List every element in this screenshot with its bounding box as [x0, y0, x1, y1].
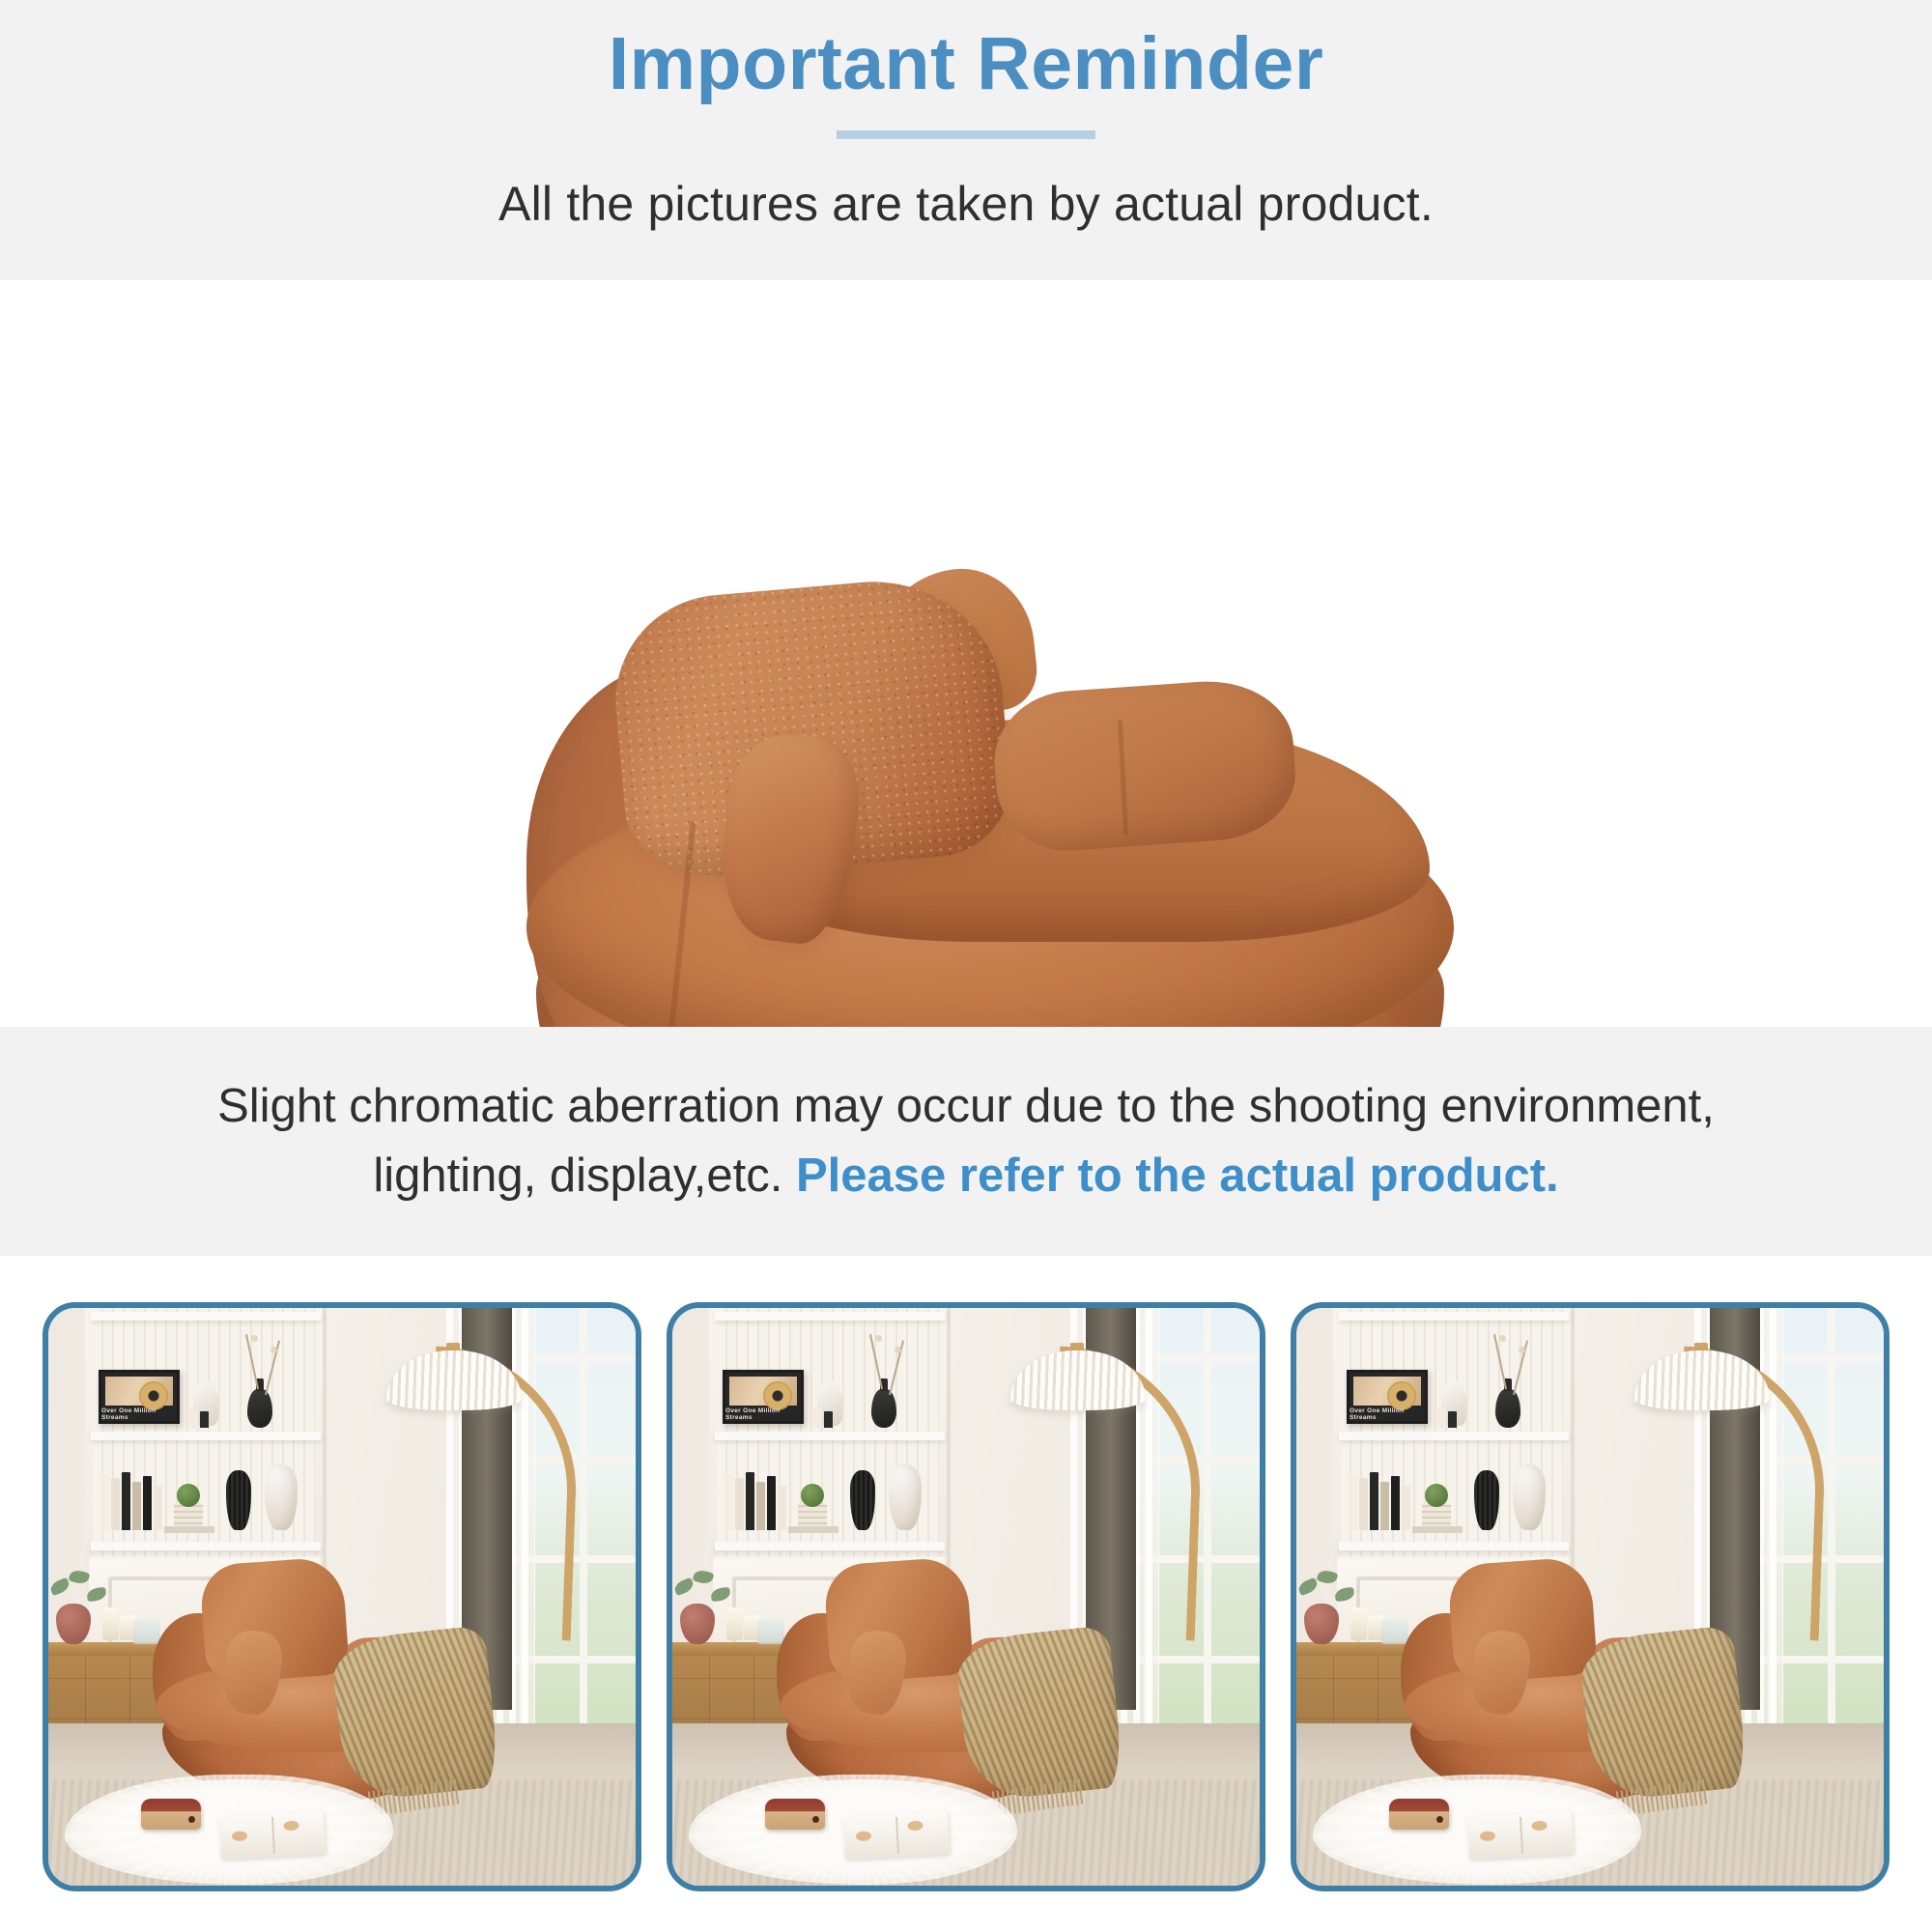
book: [1380, 1482, 1389, 1530]
branch-bud: [251, 1335, 258, 1342]
glass-jar: [133, 1619, 160, 1644]
book: [813, 1408, 822, 1428]
book-illustration: [1480, 1831, 1496, 1841]
book: [200, 1411, 209, 1428]
note-line-2: lighting, display,etc. Please refer to t…: [373, 1142, 1558, 1210]
shelf-plank-low: [1339, 1542, 1569, 1550]
bookshelf: Over One Million Streams: [85, 1308, 327, 1592]
book: [724, 1474, 733, 1530]
glass-jar: [757, 1619, 784, 1644]
book: [788, 1526, 838, 1533]
gallery-thumbnail-1[interactable]: Over One Million Streams: [43, 1302, 641, 1891]
book: [1412, 1526, 1463, 1533]
book: [1391, 1476, 1400, 1530]
book-illustration-2: [1531, 1821, 1548, 1832]
shelf-book-stack-upper: [189, 1408, 209, 1428]
branch-bud: [875, 1335, 882, 1342]
chromatic-aberration-note: Slight chromatic aberration may occur du…: [0, 1027, 1932, 1256]
cactus-plant: [1425, 1484, 1448, 1507]
vintage-radio: [1389, 1799, 1449, 1830]
note-line-2-highlight: Please refer to the actual product.: [796, 1150, 1559, 1202]
book: [100, 1474, 109, 1530]
pillar-candle: [1350, 1607, 1367, 1640]
bookshelf: Over One Million Streams: [1333, 1308, 1575, 1592]
radio-dial: [1436, 1816, 1443, 1823]
note-line-2-plain: lighting, display,etc.: [373, 1150, 796, 1202]
title-divider: [837, 130, 1095, 139]
book: [189, 1408, 198, 1428]
gallery-thumbnail-2[interactable]: Over One Million Streams: [667, 1302, 1265, 1891]
poster-gold-record: [139, 1381, 168, 1410]
poster-caption: Over One Million Streams: [1350, 1407, 1425, 1420]
shelf-book-stack-lower: [100, 1472, 162, 1530]
shelf-plank-low: [91, 1542, 321, 1550]
radio-dial: [812, 1816, 819, 1823]
branch-bud-2: [270, 1347, 277, 1353]
book: [1402, 1486, 1410, 1530]
shelf-book-stack-upper: [1437, 1408, 1457, 1428]
vintage-radio: [141, 1799, 201, 1830]
book: [778, 1486, 786, 1530]
cactus-plant: [801, 1484, 824, 1507]
book: [111, 1478, 120, 1530]
flat-book-stack: [1412, 1526, 1463, 1533]
black-ribbed-vase: [1474, 1470, 1499, 1530]
shelf-plank-mid: [91, 1432, 321, 1440]
open-book: [843, 1811, 950, 1860]
room-scene: Over One Million Streams: [48, 1308, 636, 1886]
shelf-plank-low: [715, 1542, 945, 1550]
shelf-plank-mid: [1339, 1432, 1569, 1440]
hero-product-image: [0, 280, 1932, 1027]
branch-bud-2: [895, 1347, 901, 1353]
cactus-plant: [177, 1484, 200, 1507]
lifestyle-gallery: Over One Million Streams: [0, 1256, 1932, 1932]
open-book: [219, 1811, 326, 1860]
pillar-candle: [102, 1607, 119, 1640]
book: [767, 1476, 776, 1530]
book: [164, 1526, 214, 1533]
gold-record-poster: Over One Million Streams: [723, 1370, 804, 1424]
dark-bud-vase: [871, 1389, 896, 1428]
book: [132, 1482, 141, 1530]
book-illustration: [232, 1831, 248, 1841]
glass-jar: [1381, 1619, 1408, 1644]
chair-right-pillow: [990, 675, 1300, 855]
vintage-radio: [765, 1799, 825, 1830]
book: [746, 1472, 754, 1530]
black-ribbed-vase: [226, 1470, 251, 1530]
book: [735, 1478, 744, 1530]
branch-bud-2: [1519, 1347, 1525, 1353]
page-title: Important Reminder: [609, 27, 1324, 101]
branch-bud: [1499, 1335, 1506, 1342]
white-sculptural-vase: [265, 1464, 298, 1530]
book: [143, 1476, 152, 1530]
book: [1359, 1478, 1368, 1530]
white-sculptural-vase: [889, 1464, 922, 1530]
shelf-book-stack-lower: [1349, 1472, 1410, 1530]
gold-record-poster: Over One Million Streams: [99, 1370, 180, 1424]
poster-gold-record: [1387, 1381, 1416, 1410]
shelf-plank-top: [91, 1312, 321, 1321]
open-book: [1467, 1811, 1574, 1860]
product-listing-page: Important Reminder All the pictures are …: [0, 0, 1932, 1932]
poster-caption: Over One Million Streams: [725, 1407, 801, 1420]
book: [1437, 1408, 1446, 1428]
note-line-1: Slight chromatic aberration may occur du…: [217, 1072, 1715, 1141]
dark-bud-vase: [247, 1389, 272, 1428]
book-illustration-2: [283, 1821, 299, 1832]
book-illustration: [856, 1831, 872, 1841]
book: [154, 1486, 162, 1530]
radio-dial: [188, 1816, 195, 1823]
gallery-thumbnail-3[interactable]: Over One Million Streams: [1291, 1302, 1889, 1891]
book: [824, 1411, 833, 1428]
book: [756, 1482, 765, 1530]
shelf-book-stack-upper: [813, 1408, 833, 1428]
book: [1448, 1411, 1457, 1428]
bookshelf: Over One Million Streams: [709, 1308, 951, 1592]
hero-product-section: [0, 280, 1932, 1027]
dark-bud-vase: [1495, 1389, 1520, 1428]
flat-book-stack: [788, 1526, 838, 1533]
black-ribbed-vase: [850, 1470, 875, 1530]
header-subtitle: All the pictures are taken by actual pro…: [498, 176, 1434, 232]
room-scene: Over One Million Streams: [672, 1308, 1260, 1886]
poster-gold-record: [763, 1381, 792, 1410]
shelf-plank-top: [715, 1312, 945, 1321]
poster-caption: Over One Million Streams: [101, 1407, 177, 1420]
book: [1370, 1472, 1378, 1530]
book: [122, 1472, 130, 1530]
shelf-book-stack-lower: [724, 1472, 786, 1530]
white-sculptural-vase: [1513, 1464, 1546, 1530]
shelf-plank-top: [1339, 1312, 1569, 1321]
shelf-plank-mid: [715, 1432, 945, 1440]
gold-record-poster: Over One Million Streams: [1347, 1370, 1428, 1424]
room-scene: Over One Million Streams: [1296, 1308, 1884, 1886]
flat-book-stack: [164, 1526, 214, 1533]
reminder-header-band: Important Reminder All the pictures are …: [0, 0, 1932, 280]
book-illustration-2: [907, 1821, 923, 1832]
pillar-candle: [726, 1607, 743, 1640]
book: [1349, 1474, 1357, 1530]
